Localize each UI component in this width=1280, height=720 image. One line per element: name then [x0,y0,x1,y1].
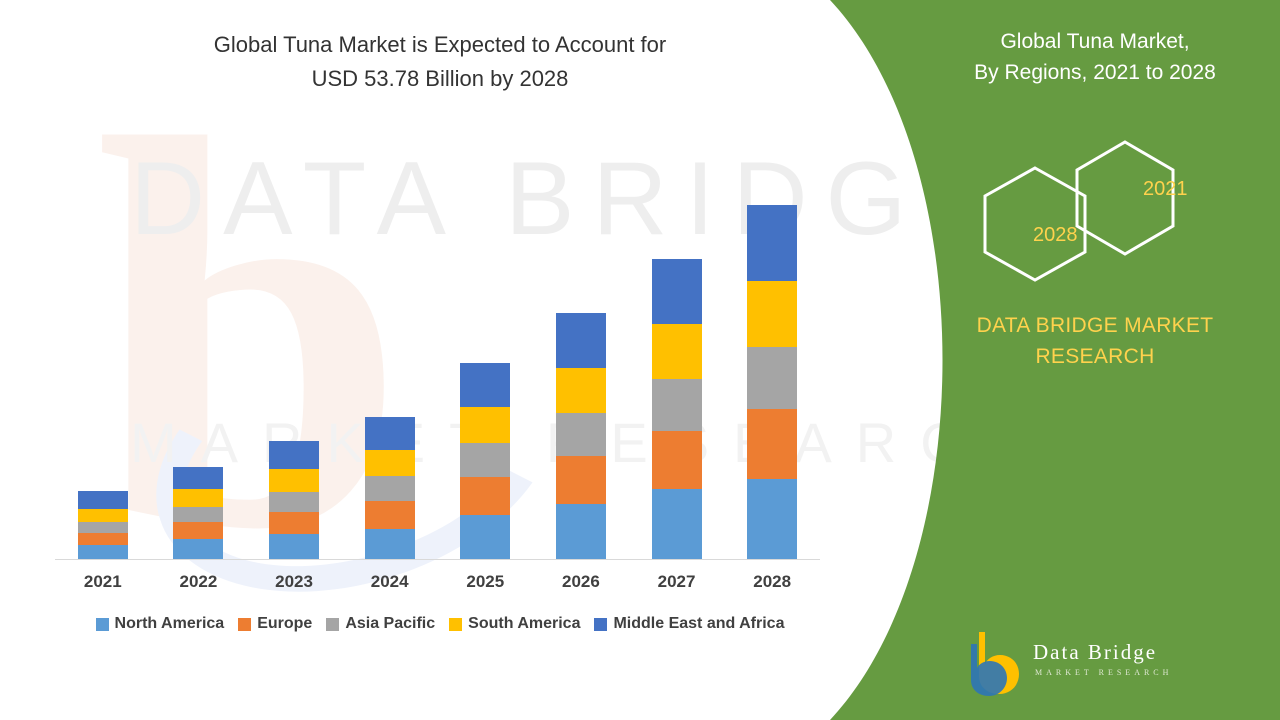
brand-line-1: DATA BRIDGE MARKET [910,310,1280,341]
bar-segment [269,492,319,512]
x-axis-tick-label: 2028 [724,572,820,592]
x-axis-tick-label: 2022 [151,572,247,592]
bar-segment [556,504,606,559]
legend-item[interactable]: South America [449,615,580,633]
legend-label: Asia Pacific [345,615,435,633]
bar-segment [652,259,702,324]
bar-group [55,120,820,559]
legend-swatch [594,618,607,631]
chart-title-line-1: Global Tuna Market is Expected to Accoun… [40,28,840,62]
x-axis-tick-label: 2021 [55,572,151,592]
bar-segment [78,509,128,522]
bar-segment [269,512,319,534]
stacked-bar[interactable] [747,205,797,559]
logo-name: Data Bridge [1033,640,1157,665]
chart-title: Global Tuna Market is Expected to Accoun… [40,28,840,96]
hex-label-2028: 2028 [1033,224,1078,247]
bar-column [629,120,725,559]
legend-item[interactable]: Europe [238,615,312,633]
bar-segment [365,476,415,501]
stacked-bar[interactable] [460,363,510,559]
x-axis-labels: 20212022202320242025202620272028 [55,572,820,592]
legend-label: Middle East and Africa [613,615,784,633]
stacked-bar[interactable] [365,417,415,559]
bar-segment [365,417,415,450]
panel-title-line-1: Global Tuna Market, [910,26,1280,57]
bar-segment [173,467,223,489]
legend-label: North America [115,615,225,633]
bar-segment [460,363,510,407]
bar-column [342,120,438,559]
bar-segment [556,368,606,413]
legend-swatch [238,618,251,631]
bar-segment [747,205,797,281]
x-axis-tick-label: 2024 [342,572,438,592]
bar-segment [78,545,128,559]
panel-title: Global Tuna Market, By Regions, 2021 to … [830,26,1280,88]
stacked-bar[interactable] [556,313,606,559]
stacked-bar[interactable] [269,441,319,559]
brand-line-2: RESEARCH [910,341,1280,372]
x-axis-tick-label: 2027 [629,572,725,592]
hexagon-badges: 2021 2028 [975,140,1275,290]
bar-segment [365,450,415,476]
bar-segment [269,441,319,469]
bar-segment [269,469,319,492]
panel-title-line-2: By Regions, 2021 to 2028 [910,57,1280,88]
bar-segment [652,324,702,379]
legend-swatch [96,618,109,631]
legend-item[interactable]: Middle East and Africa [594,615,784,633]
stacked-bar[interactable] [652,259,702,559]
bar-segment [747,479,797,559]
legend-label: South America [468,615,580,633]
chart-legend: North AmericaEuropeAsia PacificSouth Ame… [55,615,825,633]
bar-segment [460,477,510,515]
bar-segment [652,379,702,431]
stacked-bar[interactable] [173,467,223,559]
bar-column [438,120,534,559]
bar-segment [460,515,510,559]
stacked-bar[interactable] [78,491,128,559]
bar-segment [460,407,510,443]
bar-segment [269,534,319,559]
bar-segment [747,281,797,347]
bar-segment [652,431,702,489]
bar-segment [365,529,415,559]
bar-segment [78,491,128,509]
legend-swatch [326,618,339,631]
x-axis-line [55,559,820,560]
bar-segment [747,409,797,479]
bar-segment [652,489,702,559]
bar-column [55,120,151,559]
bar-segment [173,522,223,539]
bar-column [151,120,247,559]
right-panel: Global Tuna Market, By Regions, 2021 to … [830,0,1280,720]
legend-swatch [449,618,462,631]
chart-title-line-2: USD 53.78 Billion by 2028 [40,62,840,96]
bar-column [246,120,342,559]
legend-item[interactable]: Asia Pacific [326,615,435,633]
bar-segment [460,443,510,477]
hex-label-2021: 2021 [1143,178,1188,201]
plot-area [55,120,820,560]
legend-label: Europe [257,615,312,633]
bar-column [533,120,629,559]
bar-segment [78,533,128,545]
x-axis-tick-label: 2026 [533,572,629,592]
legend-item[interactable]: North America [96,615,225,633]
x-axis-tick-label: 2023 [246,572,342,592]
x-axis-tick-label: 2025 [438,572,534,592]
company-logo: Data Bridge MARKET RESEARCH [965,630,1195,700]
bar-segment [78,522,128,533]
brand-name: DATA BRIDGE MARKET RESEARCH [910,310,1280,372]
bar-column [724,120,820,559]
bar-segment [365,501,415,529]
bar-segment [173,489,223,507]
bar-segment [556,313,606,368]
bar-segment [556,413,606,456]
bar-segment [556,456,606,504]
bar-segment [173,539,223,559]
bar-segment [173,507,223,522]
bar-segment [747,347,797,409]
slide-canvas: b DATA BRIDGE MARKET RESEARCH Global Tun… [0,0,1280,720]
logo-tagline: MARKET RESEARCH [1035,668,1172,677]
